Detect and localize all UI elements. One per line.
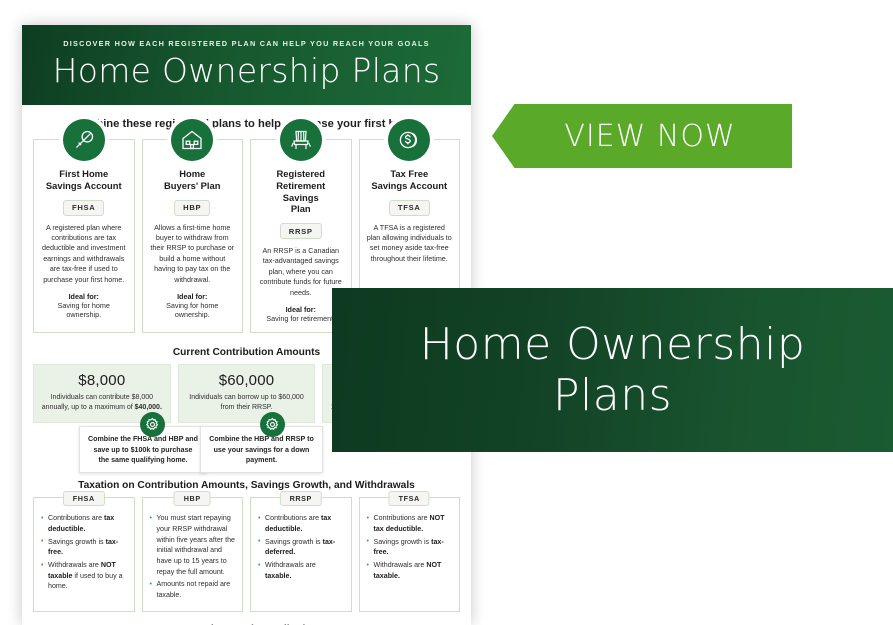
list-item: Amounts not repaid are taxable. — [150, 579, 236, 600]
view-now-button[interactable]: VIEW NOW — [492, 104, 792, 168]
list-item: Contributions are NOT tax deductible. — [367, 513, 453, 534]
taxation-badge: FHSA — [63, 491, 105, 506]
item-pre: Withdrawals are — [48, 561, 101, 569]
item-pre: You must start repaying your RRSP withdr… — [157, 514, 235, 575]
plan-ideal-label: Ideal for: — [258, 305, 344, 314]
plan-name: Home Buyers' Plan — [150, 168, 236, 192]
list-item: Savings growth is tax-free. — [367, 537, 453, 558]
contribution-amount: $60,000 — [185, 372, 309, 389]
item-pre: Contributions are — [265, 514, 321, 522]
item-pre: Savings growth is — [48, 538, 106, 546]
chair-icon — [280, 119, 322, 161]
plan-ideal-value: Saving for home ownership. — [150, 301, 236, 319]
dollar-coin-icon — [388, 119, 430, 161]
overlay-title: Home Ownership Plans — [378, 319, 848, 421]
house-icon — [171, 119, 213, 161]
taxation-list: You must start repaying your RRSP withdr… — [150, 513, 236, 600]
plan-description: An RRSP is a Canadian tax-advantaged sav… — [258, 246, 344, 298]
plan-name: Tax Free Savings Account — [367, 168, 453, 192]
list-item: Withdrawals are taxable. — [258, 560, 344, 581]
title-overlay-panel: Home Ownership Plans — [332, 288, 893, 452]
taxation-card-hbp[interactable]: HBP You must start repaying your RRSP wi… — [142, 497, 244, 611]
taxation-list: Contributions are NOT tax deductible. Sa… — [367, 513, 453, 581]
document-title: Home Ownership Plans — [22, 51, 471, 90]
plan-name: Registered Retirement Savings Plan — [258, 168, 344, 215]
plan-ideal-label: Ideal for: — [150, 292, 236, 301]
taxation-list: Contributions are tax deductible. Saving… — [258, 513, 344, 581]
item-bold: taxable. — [265, 572, 291, 580]
taxation-list: Contributions are tax deductible. Saving… — [41, 513, 127, 591]
contribution-text: Individuals can contribute $8,000 annual… — [40, 393, 164, 413]
plan-badge: RRSP — [280, 223, 322, 239]
item-pre: Savings growth is — [374, 538, 432, 546]
taxation-badge: RRSP — [280, 491, 322, 506]
plan-ideal-label: Ideal for: — [41, 292, 127, 301]
taxation-section-heading: Taxation on Contribution Amounts, Saving… — [22, 480, 471, 491]
document-eyebrow-text: DISCOVER HOW EACH REGISTERED PLAN CAN HE… — [22, 39, 471, 48]
view-now-label: VIEW NOW — [548, 119, 735, 154]
item-pre: Contributions are — [374, 514, 430, 522]
plan-description: A registered plan where contributions ar… — [41, 223, 127, 286]
item-pre: Contributions are — [48, 514, 104, 522]
list-item: Savings growth is tax-free. — [41, 537, 127, 558]
plan-name: First Home Savings Account — [41, 168, 127, 192]
list-item: Contributions are tax deductible. — [258, 513, 344, 534]
list-item: Withdrawals are NOT taxable if used to b… — [41, 560, 127, 592]
contribution-text-bold: $40,000. — [135, 404, 162, 411]
plan-description: Allows a first-time home buyer to withdr… — [150, 223, 236, 286]
contribution-text: Individuals can borrow up to $60,000 fro… — [185, 393, 309, 413]
taxation-card-rrsp[interactable]: RRSP Contributions are tax deductible. S… — [250, 497, 352, 611]
list-item: You must start repaying your RRSP withdr… — [150, 513, 236, 577]
item-pre: Withdrawals are — [374, 561, 427, 569]
list-item: Savings growth is tax-deferred. — [258, 537, 344, 558]
contribution-amount: $8,000 — [40, 372, 164, 389]
plan-badge: HBP — [174, 200, 210, 216]
taxation-badge: HBP — [174, 491, 211, 506]
list-item: Contributions are tax deductible. — [41, 513, 127, 534]
plan-card-fhsa[interactable]: First Home Savings Account FHSA A regist… — [33, 139, 135, 333]
plan-card-hbp[interactable]: Home Buyers' Plan HBP Allows a first-tim… — [142, 139, 244, 333]
taxation-card-fhsa[interactable]: FHSA Contributions are tax deductible. S… — [33, 497, 135, 611]
combine-callout-hbp-rrsp: Combine the HBP and RRSP to use your sav… — [200, 426, 323, 473]
taxation-cards-row: FHSA Contributions are tax deductible. S… — [22, 497, 471, 611]
taxation-badge: TFSA — [389, 491, 430, 506]
key-icon — [63, 119, 105, 161]
plan-ideal-value: Saving for home ownership. — [41, 301, 127, 319]
document-header-band: DISCOVER HOW EACH REGISTERED PLAN CAN HE… — [22, 25, 471, 105]
plan-ideal-value: Saving for retirement. — [258, 314, 344, 323]
list-item: Withdrawals are NOT taxable. — [367, 560, 453, 581]
taxation-card-tfsa[interactable]: TFSA Contributions are NOT tax deductibl… — [359, 497, 461, 611]
item-pre: Withdrawals are — [265, 561, 316, 569]
item-pre: Savings growth is — [265, 538, 323, 546]
plan-badge: FHSA — [63, 200, 104, 216]
item-pre: Amounts not repaid are taxable. — [157, 580, 231, 599]
plan-badge: TFSA — [389, 200, 430, 216]
plan-description: A TFSA is a registered plan allowing ind… — [367, 223, 453, 265]
